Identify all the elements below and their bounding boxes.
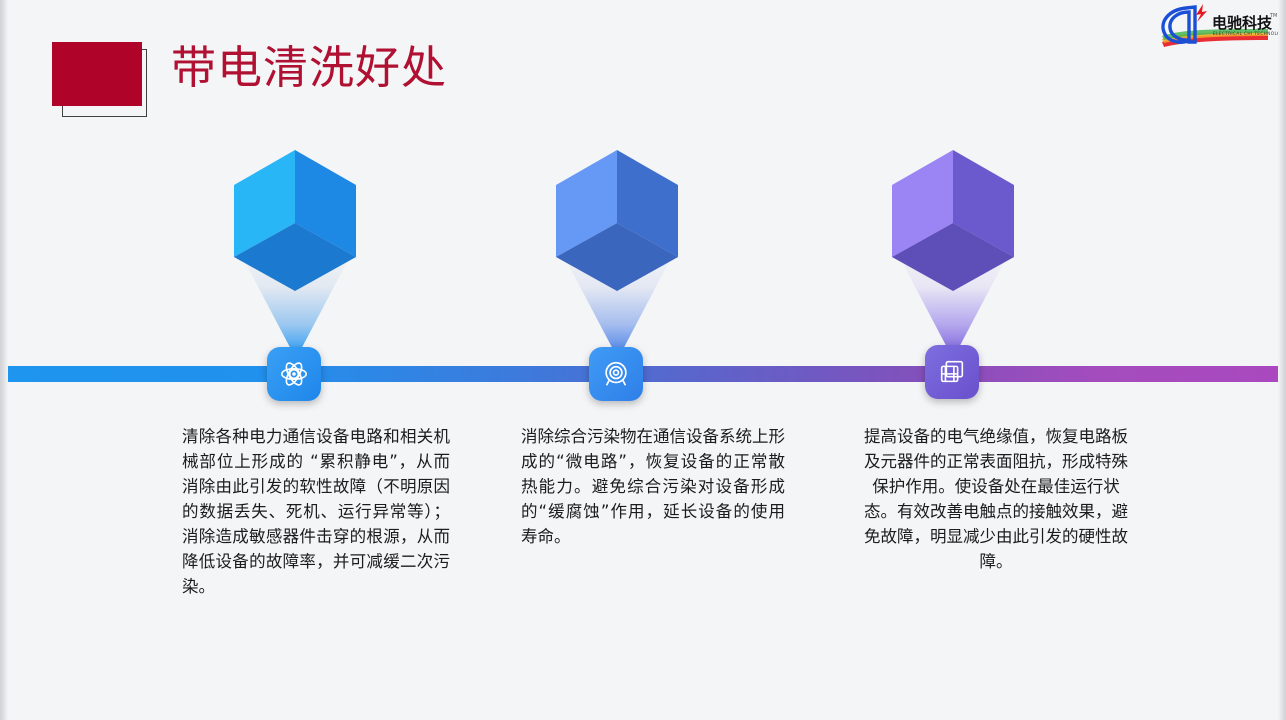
film-slides-icon (937, 357, 967, 387)
badge-atom[interactable] (267, 347, 321, 401)
badge-film-slides[interactable] (925, 345, 979, 399)
description-text-2: 消除综合污染物在通信设备系统上形成的“微电路”，恢复设备的正常散热能力。避免综合… (521, 424, 785, 549)
description-text-3: 提高设备的电气绝缘值，恢复电路板及元器件的正常表面阻抗，形成特殊保护作用。使设备… (862, 424, 1130, 574)
description-text-1: 清除各种电力通信设备电路和相关机械部位上形成的 “累积静电”，从而消除由此引发的… (182, 424, 450, 599)
target-icon (601, 359, 631, 389)
atom-icon (279, 359, 309, 389)
svg-text:电驰科技: 电驰科技 (1212, 14, 1273, 32)
badge-target[interactable] (589, 347, 643, 401)
cube-2 (552, 145, 682, 295)
svg-text:ELECTRICAL CHI TECHNOLOGY: ELECTRICAL CHI TECHNOLOGY (1213, 31, 1278, 36)
cube-1 (230, 145, 360, 295)
company-logo: 电驰科技 ELECTRICAL CHI TECHNOLOGY TM (1156, 2, 1278, 50)
logo-mark-icon: 电驰科技 ELECTRICAL CHI TECHNOLOGY TM (1156, 2, 1278, 50)
svg-text:TM: TM (1269, 13, 1277, 19)
timeline-bar (8, 366, 1278, 382)
cube-3 (888, 145, 1018, 295)
slide-right-edge (1278, 0, 1286, 720)
slide-canvas: 带电清洗好处 电驰科技 ELECTRICAL CHI TECHNOLOGY TM (0, 0, 1286, 720)
title-accent-filled-square (52, 42, 142, 106)
page-title: 带电清洗好处 (171, 38, 447, 98)
slide-left-edge (0, 0, 8, 720)
